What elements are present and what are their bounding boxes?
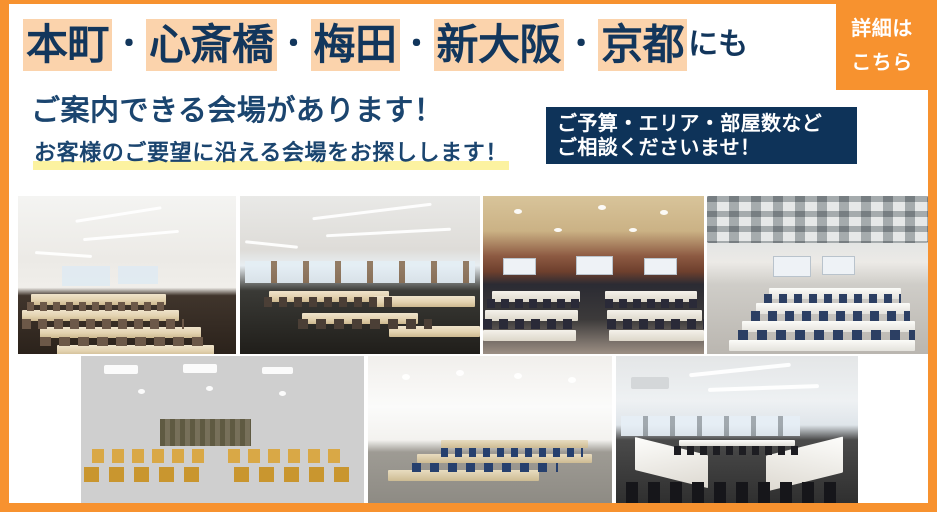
details-cta-button[interactable]: 詳細は こちら bbox=[836, 4, 928, 90]
city-tag-kyoto: 京都 bbox=[598, 19, 687, 71]
window bbox=[62, 266, 110, 287]
ceiling-light bbox=[660, 210, 668, 215]
chair-row bbox=[487, 299, 580, 308]
city-tag-honmachi: 本町 bbox=[23, 19, 112, 71]
chair-row bbox=[298, 319, 432, 328]
chair-row bbox=[626, 482, 844, 503]
chair-row bbox=[412, 463, 558, 472]
city-tag-umeda: 梅田 bbox=[311, 19, 400, 71]
photo-scene bbox=[707, 196, 928, 354]
chair-row bbox=[674, 446, 800, 455]
photo-scene bbox=[368, 356, 612, 506]
chair-row bbox=[228, 449, 347, 463]
chair-row bbox=[483, 319, 578, 328]
coffered-ceiling bbox=[707, 196, 928, 243]
chair-row bbox=[764, 294, 901, 303]
projection-screen bbox=[503, 258, 536, 276]
marker-line-text: お客様のご要望に沿える会場をお探しします！ bbox=[33, 140, 509, 170]
photo-scene bbox=[483, 196, 704, 354]
headline-suffix: にも bbox=[687, 19, 748, 71]
headline: 本町 ・ 心斎橋 ・ 梅田 ・ 新大阪 ・ 京都 にも bbox=[23, 14, 843, 76]
marker-line: お客様のご要望に沿える会場をお探しします！ bbox=[33, 140, 509, 170]
ceiling-light bbox=[83, 230, 179, 241]
photo-convention-hall[interactable] bbox=[707, 196, 928, 354]
photo-hollow-square-room[interactable] bbox=[616, 356, 858, 506]
photo-scene bbox=[81, 356, 364, 506]
ceiling-light bbox=[629, 228, 637, 232]
photo-scene bbox=[616, 356, 858, 506]
ceiling-light bbox=[183, 364, 217, 373]
projection-screen bbox=[644, 258, 677, 276]
cta-line-1: 詳細は bbox=[836, 12, 928, 46]
ceiling-light bbox=[75, 207, 162, 224]
ceiling-light bbox=[554, 228, 562, 232]
photo-banquet-chairs[interactable] bbox=[81, 356, 364, 506]
ceiling-light bbox=[104, 365, 138, 374]
chair-row bbox=[92, 449, 211, 463]
callout-line-2: ご相談くださいませ！ bbox=[557, 136, 857, 160]
projection-screen bbox=[822, 256, 855, 275]
photo-small-meeting-room[interactable] bbox=[368, 356, 612, 506]
window bbox=[118, 266, 157, 285]
table-row bbox=[388, 470, 539, 481]
photo-large-hall[interactable] bbox=[483, 196, 704, 354]
table-row bbox=[441, 440, 587, 448]
chair-row bbox=[605, 299, 702, 308]
downlight bbox=[138, 389, 145, 394]
chair-row bbox=[40, 337, 206, 346]
city-separator: ・ bbox=[112, 19, 146, 71]
chair-row bbox=[441, 448, 583, 457]
photo-seminar-room-white[interactable] bbox=[18, 196, 236, 354]
chair-row bbox=[27, 302, 167, 311]
chair-row bbox=[22, 319, 183, 328]
callout-line-1: ご予算・エリア・部屋数など bbox=[557, 112, 857, 136]
downlight bbox=[206, 386, 213, 391]
city-separator: ・ bbox=[564, 19, 598, 71]
photo-seminar-room-windows[interactable] bbox=[240, 196, 480, 354]
ac-unit bbox=[631, 377, 670, 389]
ceiling-light bbox=[598, 205, 606, 210]
table-row bbox=[483, 330, 576, 341]
ceiling-light bbox=[312, 203, 431, 221]
city-tag-shin-osaka: 新大阪 bbox=[434, 19, 565, 71]
venue-promo-banner: 本町 ・ 心斎橋 ・ 梅田 ・ 新大阪 ・ 京都 にも ご案内できる会場がありま… bbox=[0, 0, 937, 512]
venue-photo-gallery bbox=[0, 196, 937, 512]
stage-curtain bbox=[160, 419, 251, 446]
downlight bbox=[402, 374, 410, 380]
ceiling-light bbox=[689, 363, 790, 378]
projection-screen bbox=[773, 256, 810, 277]
downlight bbox=[568, 377, 576, 383]
ceiling-light bbox=[708, 384, 819, 392]
city-separator: ・ bbox=[277, 19, 311, 71]
downlight bbox=[279, 391, 286, 396]
table-row bbox=[729, 340, 915, 351]
ceiling-light bbox=[262, 367, 293, 375]
chair-row bbox=[751, 311, 910, 320]
photo-scene bbox=[240, 196, 480, 354]
table-row bbox=[609, 330, 704, 341]
consultation-callout: ご予算・エリア・部屋数など ご相談くださいませ！ bbox=[546, 107, 857, 164]
chair-row bbox=[264, 297, 398, 306]
downlight bbox=[456, 370, 464, 376]
downlight bbox=[514, 373, 522, 379]
cta-line-2: こちら bbox=[836, 46, 928, 80]
ceiling-light bbox=[245, 241, 298, 250]
ceiling-light bbox=[35, 251, 92, 258]
city-tag-shinsaibashi: 心斎橋 bbox=[146, 19, 277, 71]
ceiling-light bbox=[514, 209, 522, 214]
chair-row bbox=[607, 319, 704, 328]
photo-scene bbox=[18, 196, 236, 354]
window-band bbox=[621, 416, 800, 436]
projection-screen bbox=[576, 256, 613, 275]
ceiling-light bbox=[326, 227, 451, 237]
window-band bbox=[245, 261, 475, 283]
chair-row bbox=[738, 330, 915, 339]
city-separator: ・ bbox=[400, 19, 434, 71]
chair-row bbox=[234, 467, 359, 482]
subheadline: ご案内できる会場があります！ bbox=[31, 87, 443, 129]
chair-row bbox=[84, 467, 209, 482]
